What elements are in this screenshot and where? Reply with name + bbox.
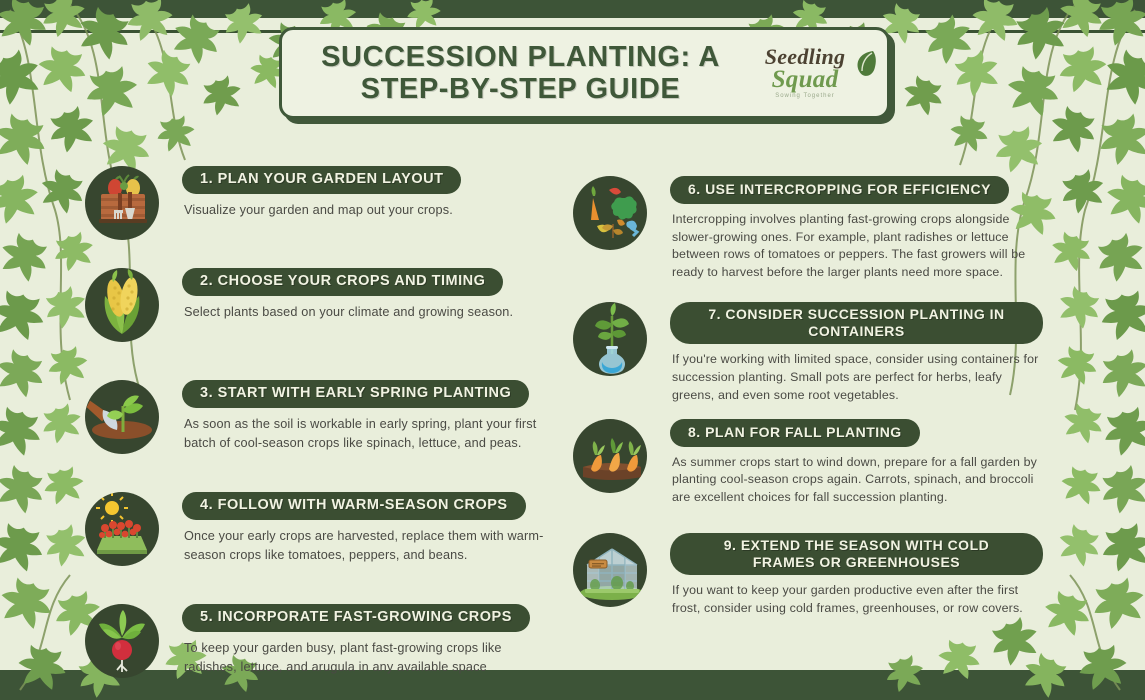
step-3: 3. START WITH EARLY SPRING PLANTING As s… bbox=[85, 380, 550, 478]
step-5: 5. INCORPORATE FAST-GROWING CROPS To kee… bbox=[85, 604, 550, 692]
step-6-description: Intercropping involves planting fast-gro… bbox=[672, 211, 1043, 283]
step-4-title: 4. FOLLOW WITH WARM-SEASON CROPS bbox=[182, 492, 526, 520]
vegetable-crate-icon bbox=[85, 166, 159, 240]
step-8-body: 8. PLAN FOR FALL PLANTING As summer crop… bbox=[670, 419, 1043, 507]
step-1-icon-circle bbox=[85, 166, 159, 240]
step-5-icon-circle bbox=[85, 604, 159, 678]
trowel-seedling-icon bbox=[85, 380, 159, 454]
logo-line1: Seedling bbox=[765, 47, 846, 68]
step-6-title: 6. USE INTERCROPPING FOR EFFICIENCY bbox=[670, 176, 1009, 204]
steps-column-left: 1. PLAN YOUR GARDEN LAYOUT Visualize you… bbox=[85, 166, 550, 700]
greenhouse-icon bbox=[573, 533, 647, 607]
step-4-icon-circle bbox=[85, 492, 159, 566]
step-5-body: 5. INCORPORATE FAST-GROWING CROPS To kee… bbox=[182, 604, 550, 677]
poster-header: SUCCESSION PLANTING: A STEP-BY-STEP GUID… bbox=[279, 27, 890, 119]
step-2: 2. CHOOSE YOUR CROPS AND TIMING Select p… bbox=[85, 268, 550, 366]
steps-column-right: 6. USE INTERCROPPING FOR EFFICIENCY Inte… bbox=[573, 176, 1043, 637]
title-wrap: SUCCESSION PLANTING: A STEP-BY-STEP GUID… bbox=[282, 41, 735, 106]
step-4: 4. FOLLOW WITH WARM-SEASON CROPS Once yo… bbox=[85, 492, 550, 590]
step-2-description: Select plants based on your climate and … bbox=[184, 303, 550, 322]
step-1-description: Visualize your garden and map out your c… bbox=[184, 201, 550, 220]
step-2-title: 2. CHOOSE YOUR CROPS AND TIMING bbox=[182, 268, 503, 296]
mixed-vegetables-icon bbox=[573, 176, 647, 250]
step-9-description: If you want to keep your garden producti… bbox=[672, 582, 1043, 618]
step-7-icon-circle bbox=[573, 302, 647, 376]
step-9: 9. EXTEND THE SEASON WITH COLD FRAMES OR… bbox=[573, 533, 1043, 623]
step-5-title: 5. INCORPORATE FAST-GROWING CROPS bbox=[182, 604, 530, 632]
step-6-body: 6. USE INTERCROPPING FOR EFFICIENCY Inte… bbox=[670, 176, 1043, 282]
step-8-description: As summer crops start to wind down, prep… bbox=[672, 454, 1043, 508]
step-7: 7. CONSIDER SUCCESSION PLANTING IN CONTA… bbox=[573, 302, 1043, 405]
step-7-description: If you're working with limited space, co… bbox=[672, 351, 1043, 405]
step-3-description: As soon as the soil is workable in early… bbox=[184, 415, 550, 453]
step-5-description: To keep your garden busy, plant fast-gro… bbox=[184, 639, 550, 677]
step-3-body: 3. START WITH EARLY SPRING PLANTING As s… bbox=[182, 380, 550, 453]
step-9-icon-circle bbox=[573, 533, 647, 607]
step-2-icon-circle bbox=[85, 268, 159, 342]
step-1-title: 1. PLAN YOUR GARDEN LAYOUT bbox=[182, 166, 461, 194]
corn-icon bbox=[85, 268, 159, 342]
plant-in-vase-icon bbox=[573, 302, 647, 376]
carrot-row-icon bbox=[573, 419, 647, 493]
step-2-body: 2. CHOOSE YOUR CROPS AND TIMING Select p… bbox=[182, 268, 550, 322]
step-3-title: 3. START WITH EARLY SPRING PLANTING bbox=[182, 380, 529, 408]
radish-icon bbox=[85, 604, 159, 678]
step-9-title: 9. EXTEND THE SEASON WITH COLD FRAMES OR… bbox=[670, 533, 1043, 575]
step-7-title: 7. CONSIDER SUCCESSION PLANTING IN CONTA… bbox=[670, 302, 1043, 344]
step-8: 8. PLAN FOR FALL PLANTING As summer crop… bbox=[573, 419, 1043, 519]
step-4-description: Once your early crops are harvested, rep… bbox=[184, 527, 550, 565]
tomato-bed-sun-icon bbox=[85, 492, 159, 566]
page-title: SUCCESSION PLANTING: A STEP-BY-STEP GUID… bbox=[306, 41, 735, 106]
logo-line2: Squad bbox=[772, 68, 839, 92]
step-8-title: 8. PLAN FOR FALL PLANTING bbox=[670, 419, 920, 447]
step-4-body: 4. FOLLOW WITH WARM-SEASON CROPS Once yo… bbox=[182, 492, 550, 565]
step-6: 6. USE INTERCROPPING FOR EFFICIENCY Inte… bbox=[573, 176, 1043, 288]
brand-logo: Seedling Squad Sowing Together bbox=[735, 47, 887, 100]
step-7-body: 7. CONSIDER SUCCESSION PLANTING IN CONTA… bbox=[670, 302, 1043, 405]
step-1: 1. PLAN YOUR GARDEN LAYOUT Visualize you… bbox=[85, 166, 550, 254]
step-9-body: 9. EXTEND THE SEASON WITH COLD FRAMES OR… bbox=[670, 533, 1043, 618]
leaf-icon bbox=[853, 49, 879, 81]
step-3-icon-circle bbox=[85, 380, 159, 454]
step-1-body: 1. PLAN YOUR GARDEN LAYOUT Visualize you… bbox=[182, 166, 550, 220]
infographic-poster: SUCCESSION PLANTING: A STEP-BY-STEP GUID… bbox=[0, 0, 1145, 700]
logo-tagline: Sowing Together bbox=[775, 93, 835, 99]
step-8-icon-circle bbox=[573, 419, 647, 493]
step-6-icon-circle bbox=[573, 176, 647, 250]
